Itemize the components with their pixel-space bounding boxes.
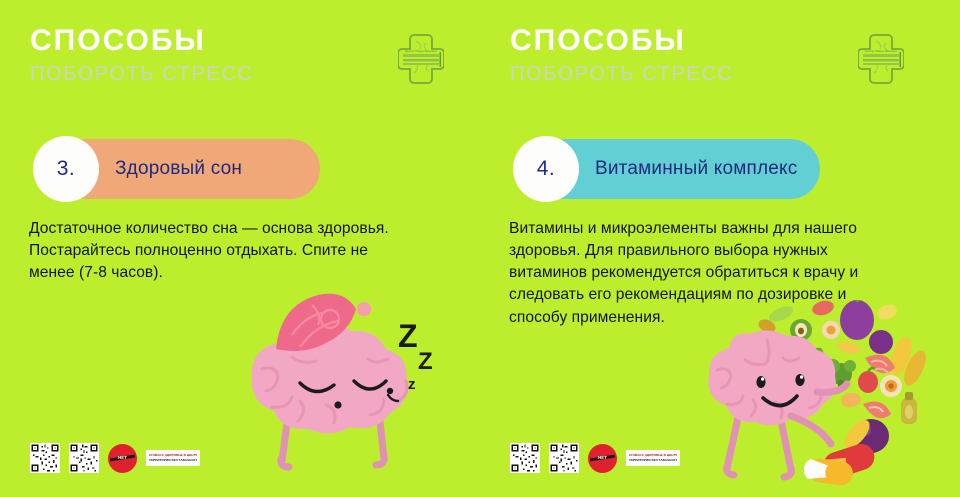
- badge-label-line-1: КУЗБАСС ЗДОРОВЬЕ В ЦЕНТРЕ: [629, 454, 677, 457]
- badge-label-line-1: КУЗБАСС ЗДОРОВЬЕ В ЦЕНТРЕ: [149, 454, 197, 457]
- cross-logo: Центр Общественного: [398, 33, 444, 90]
- footer-badges: НЕТ КУЗБАСС ЗДОРОВЬЕ В ЦЕНТРЕ ТЕРРИТОРИЯ…: [510, 443, 680, 473]
- page-subtitle: ПОБОРОТЬ СТРЕСС: [30, 64, 253, 84]
- badge-label-line-2: ТЕРРИТОРИЯ БЕЗ ТАБАЧНОГО ДЫМА: [149, 459, 197, 462]
- badge-text: НЕТ: [598, 456, 607, 461]
- illustration-vitamin-brain: [705, 300, 955, 497]
- page-title: СПОСОБЫ: [30, 26, 253, 56]
- page-subtitle: ПОБОРОТЬ СТРЕСС: [510, 64, 733, 84]
- badge-label-line-2: ТЕРРИТОРИЯ БЕЗ ТАБАЧНОГО ДЫМА: [629, 459, 677, 462]
- step-label-4: Витаминный комплекс: [595, 158, 797, 180]
- panel-healthy-sleep: СПОСОБЫ ПОБОРОТЬ СТРЕСС Центр Общественн…: [0, 0, 480, 497]
- svg-text:Центр Общественного: Центр Общественного: [865, 49, 898, 53]
- svg-text:Z: Z: [418, 348, 433, 375]
- body-paragraph-3: Достаточное количество сна — основа здор…: [29, 218, 459, 284]
- badge-text: НЕТ: [118, 456, 127, 461]
- qr-code-2[interactable]: [69, 443, 99, 473]
- cross-logo-icon: Центр Общественного: [858, 33, 904, 85]
- step-number-4: 4.: [513, 136, 579, 202]
- no-smoking-badge: НЕТ: [108, 444, 137, 473]
- badge-label: КУЗБАСС ЗДОРОВЬЕ В ЦЕНТРЕ ТЕРРИТОРИЯ БЕЗ…: [626, 450, 680, 466]
- no-smoking-badge: НЕТ: [588, 444, 617, 473]
- qr-code-2[interactable]: [549, 443, 579, 473]
- capsule-icon: [803, 441, 878, 487]
- svg-text:Центр Общественного: Центр Общественного: [405, 49, 438, 53]
- panel-vitamin-complex: СПОСОБЫ ПОБОРОТЬ СТРЕСС Центр Общественн…: [480, 0, 960, 497]
- sleeping-brain-icon: Z Z z: [238, 283, 443, 497]
- svg-text:z: z: [408, 376, 416, 393]
- panel-header: СПОСОБЫ ПОБОРОТЬ СТРЕСС: [30, 26, 253, 84]
- cross-logo-icon: Центр Общественного: [398, 33, 444, 85]
- qr-code-1[interactable]: [30, 443, 60, 473]
- page-title: СПОСОБЫ: [510, 26, 733, 56]
- svg-text:Z: Z: [398, 318, 418, 354]
- footer-badges: НЕТ КУЗБАСС ЗДОРОВЬЕ В ЦЕНТРЕ ТЕРРИТОРИЯ…: [30, 443, 200, 473]
- vitamin-brain-icon: [705, 300, 955, 497]
- panel-header: СПОСОБЫ ПОБОРОТЬ СТРЕСС: [510, 26, 733, 84]
- qr-code-1[interactable]: [510, 443, 540, 473]
- step-pill-4[interactable]: 4. Витаминный комплекс: [535, 139, 820, 199]
- slide-stage: СПОСОБЫ ПОБОРОТЬ СТРЕСС Центр Общественн…: [0, 0, 960, 497]
- illustration-sleeping-brain: Z Z z: [238, 283, 443, 497]
- cross-logo: Центр Общественного: [858, 33, 904, 90]
- step-label-3: Здоровый сон: [115, 158, 242, 180]
- step-pill-3[interactable]: 3. Здоровый сон: [55, 139, 320, 199]
- badge-label: КУЗБАСС ЗДОРОВЬЕ В ЦЕНТРЕ ТЕРРИТОРИЯ БЕЗ…: [146, 450, 200, 466]
- step-number-3: 3.: [33, 136, 99, 202]
